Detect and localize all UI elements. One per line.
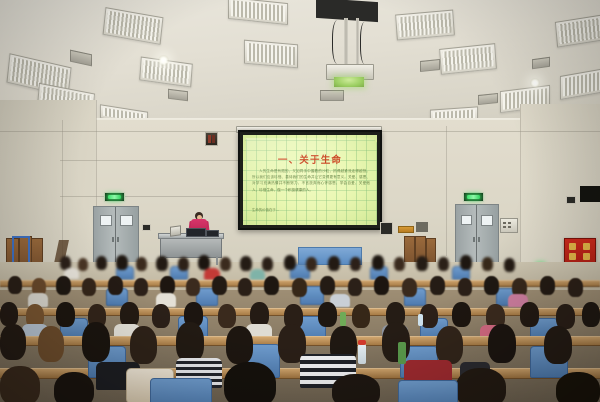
wall-switch-left[interactable] (142, 224, 151, 231)
wall-plaque (398, 226, 414, 233)
projector-cable (332, 20, 345, 64)
wall-monitor (580, 186, 600, 202)
ceiling-vent (320, 90, 344, 101)
laptop (170, 225, 181, 237)
wall-picture (380, 222, 393, 235)
projector-lens (334, 77, 364, 87)
podium-equipment (186, 228, 206, 237)
podium-equipment (206, 230, 219, 237)
ceiling-downlight (530, 78, 540, 88)
ceiling-light-fixture (395, 10, 455, 41)
av-control-panel[interactable] (500, 218, 518, 233)
slide-title: 一、关于生命 (243, 152, 377, 166)
exit-sign-left (104, 192, 125, 202)
ceiling-vent (420, 59, 440, 72)
exit-sign-right (463, 192, 484, 202)
lecture-hall-photo: 一、关于生命 人的生命是有限的，又如同手中握着的沙粒，抓得越紧流走得越快。所以我… (0, 0, 600, 402)
wall-sensor (566, 196, 576, 204)
slide-body-text: 人的生命是有限的，又如同手中握着的沙粒，抓得越紧流走得越快。所以我们应该珍惜、善… (252, 168, 370, 193)
projector-cable (360, 22, 371, 64)
projector-pole (356, 18, 359, 66)
wall-box (416, 222, 428, 232)
slide-footer-text: 生命的价值在于… (252, 207, 279, 212)
projection-screen: 一、关于生命 人的生命是有限的，又如同手中握着的沙粒，抓得越紧流走得越快。所以我… (238, 130, 382, 230)
audience-area (0, 250, 600, 402)
ceiling-downlight (158, 55, 169, 66)
ceiling-vent (478, 93, 498, 105)
ceiling-light-fixture (244, 40, 298, 69)
wall-speaker (205, 132, 218, 146)
